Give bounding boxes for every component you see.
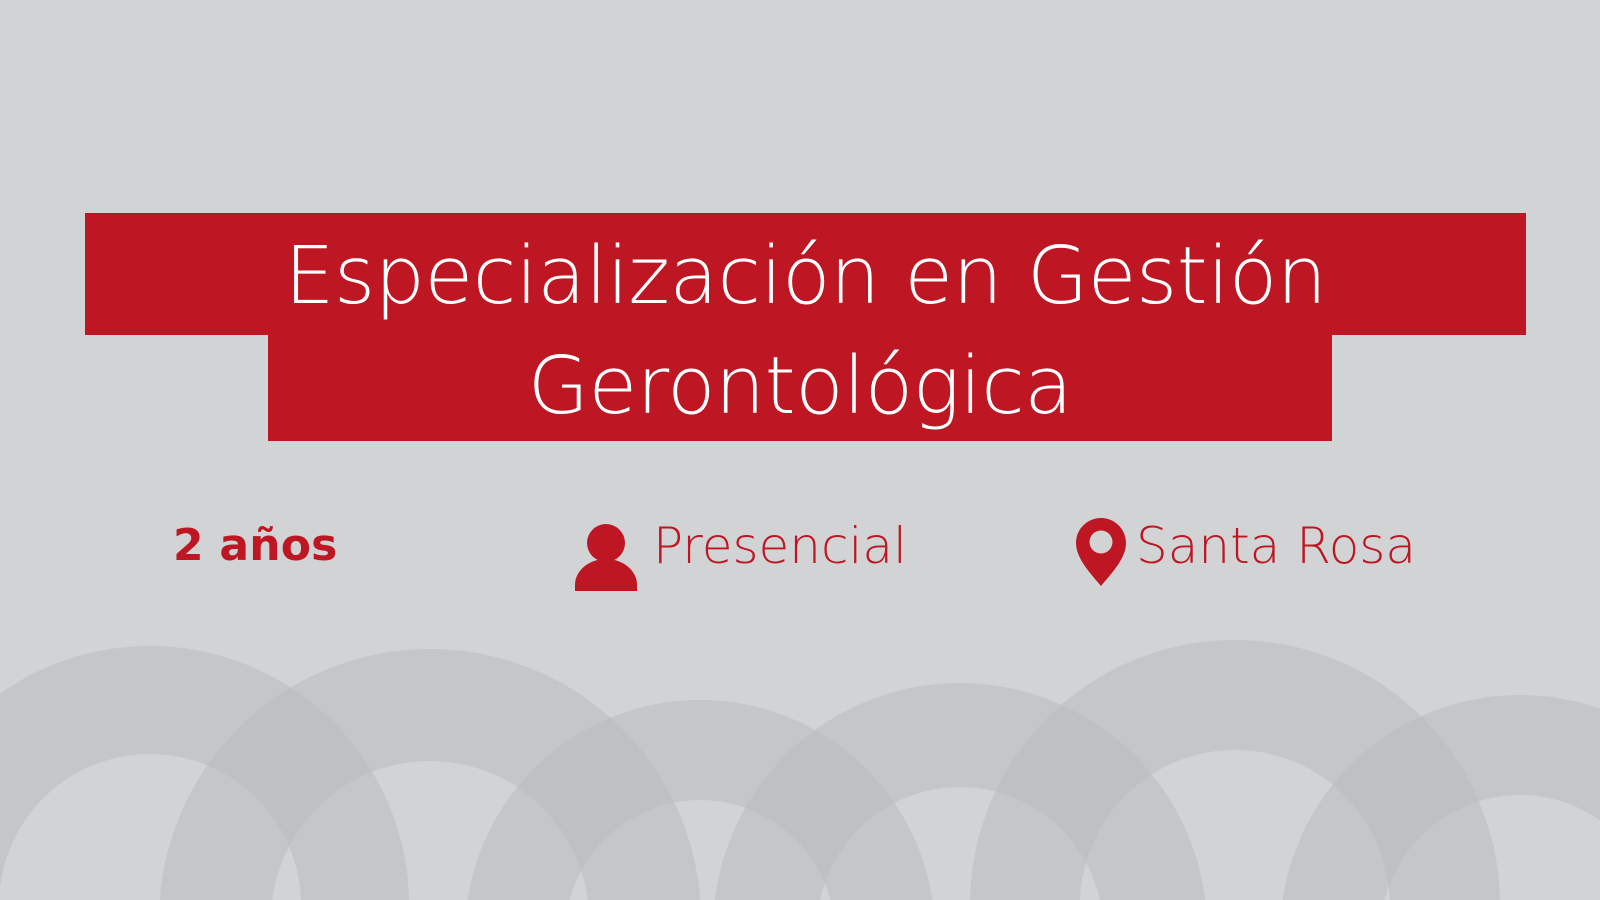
meta-item-duration: 2 años: [173, 498, 338, 598]
person-icon: [573, 505, 639, 591]
meta-item-location: Santa Rosa: [1072, 498, 1416, 598]
decorative-rings-pattern: [0, 0, 1600, 900]
title-banner-line-1: Especialización en Gestión: [85, 213, 1526, 335]
page-title-line-2: Gerontológica: [528, 347, 1073, 426]
program-card: Especialización en Gestión Gerontológica…: [0, 0, 1600, 900]
title-banner-line-2: Gerontológica: [268, 335, 1332, 441]
location-label: Santa Rosa: [1136, 521, 1416, 571]
title-banner: Especialización en Gestión Gerontológica: [0, 213, 1600, 441]
page-title-line-1: Especialización en Gestión: [285, 237, 1327, 316]
program-meta-row: 2 años Presencial Santa Rosa: [0, 498, 1600, 598]
meta-item-modality: Presencial: [573, 498, 907, 598]
modality-label: Presencial: [653, 521, 907, 571]
duration-label: 2 años: [173, 524, 338, 568]
map-pin-icon: [1072, 505, 1130, 591]
